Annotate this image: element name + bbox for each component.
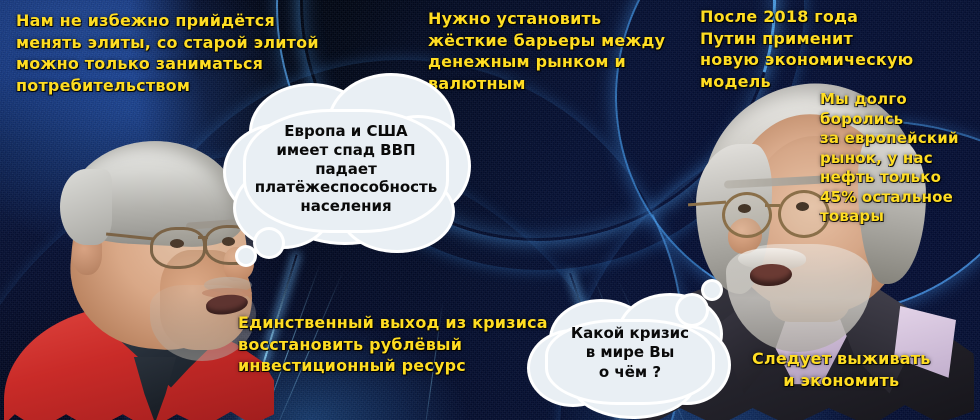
left-speaker-hair-side [60,169,112,245]
caption-top-right: После 2018 года Путин применит новую эко… [700,6,980,92]
caption-bottom-right: Следует выживать и экономить [752,348,931,391]
right-speaker-glasses-bridge [765,204,780,207]
speech-bubble-crisis: Какой кризис в мире Вы о чём ? [528,292,732,420]
meme-image: Нам не избежно прийдётся менять элиты, с… [0,0,980,420]
caption-right-side: Мы долго боролись за европейский рынок, … [820,90,959,227]
right-speaker-eye-left [738,204,751,213]
left-speaker-glasses-bridge [198,236,208,239]
speech-bubble-gdp-text: Европа и США имеет спад ВВП падает платё… [222,74,470,264]
caption-bottom-left: Единственный выход из кризиса восстанови… [238,312,548,377]
speech-bubble-crisis-text: Какой кризис в мире Вы о чём ? [528,292,732,420]
left-speaker-glasses-lens-left [150,227,206,269]
right-speaker-eye-right [796,202,809,211]
speech-bubble-gdp: Европа и США имеет спад ВВП падает платё… [222,74,470,264]
right-speaker-glasses-lens-left [722,192,772,238]
left-speaker-eye-left [170,239,184,248]
